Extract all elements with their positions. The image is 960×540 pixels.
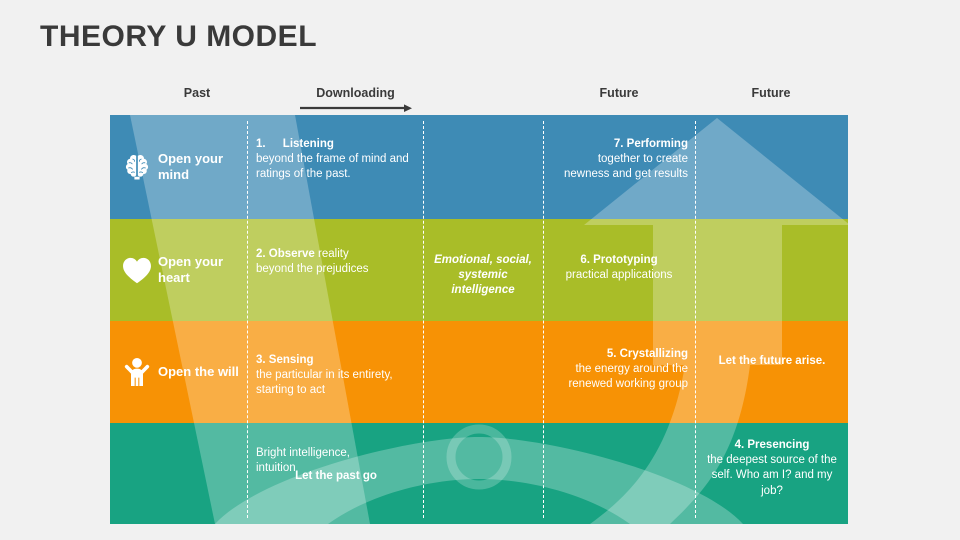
label-open-the-will: Open the will (110, 321, 247, 423)
cell-listening-body: beyond the frame of mind and ratings of … (256, 152, 416, 182)
heart-icon (116, 257, 158, 284)
cell-presencing: 4. Presencing the deepest source of the … (702, 438, 842, 499)
theory-u-matrix: Open your mind 1. Listening beyond the f… (110, 115, 848, 524)
cell-listening: 1. Listening beyond the frame of mind an… (256, 137, 416, 183)
cell-presencing-body: the deepest source of the self. Who am I… (702, 453, 842, 499)
column-header-future-2: Future (696, 86, 846, 100)
cell-let-the-future-arise: Let the future arise. (702, 354, 842, 369)
cell-crystallizing: 5. Crystallizing the energy around the r… (550, 347, 688, 393)
cell-observe-body: beyond the prejudices (256, 262, 416, 277)
cell-intelligence: Emotional, social, systemic intelligence (430, 253, 536, 299)
column-divider-2 (423, 121, 424, 518)
column-header-downloading: Downloading (248, 86, 463, 100)
cell-listening-heading: Listening (283, 138, 334, 150)
label-open-your-mind: Open your mind (110, 115, 247, 219)
cell-observe-heading: 2. Observe (256, 248, 315, 260)
cell-prototyping-heading: 6. Prototyping (550, 253, 688, 268)
label-text-open-your-mind: Open your mind (158, 151, 247, 183)
cell-crystallizing-body: the energy around the renewed working gr… (550, 362, 688, 392)
person-icon (116, 357, 158, 387)
cell-sensing-body: the particular in its entirety, starting… (256, 368, 416, 398)
cell-observe-rest: reality (315, 248, 349, 260)
cell-listening-number: 1. (256, 138, 266, 150)
label-text-open-the-will: Open the will (158, 364, 239, 380)
label-open-your-heart: Open your heart (110, 219, 247, 321)
cell-performing-body: together to create newness and get resul… (550, 152, 688, 182)
cell-performing-heading: 7. Performing (550, 137, 688, 152)
slide-canvas: THEORY U MODEL Past Downloading Future F… (0, 0, 960, 540)
cell-let-the-past-go: Let the past go (256, 469, 416, 484)
cell-sensing: 3. Sensing the particular in its entiret… (256, 353, 416, 399)
cell-observe: 2. Observe reality beyond the prejudices (256, 247, 416, 277)
cell-performing: 7. Performing together to create newness… (550, 137, 688, 183)
label-text-open-your-heart: Open your heart (158, 254, 247, 286)
page-title: THEORY U MODEL (40, 20, 317, 54)
downloading-arrow-icon (300, 104, 412, 113)
column-header-past: Past (152, 86, 242, 100)
cell-sensing-heading: 3. Sensing (256, 353, 416, 368)
column-divider-4 (695, 121, 696, 518)
column-header-future-1: Future (545, 86, 693, 100)
brain-icon (116, 154, 158, 180)
column-divider-3 (543, 121, 544, 518)
cell-crystallizing-heading: 5. Crystallizing (550, 347, 688, 362)
cell-prototyping: 6. Prototyping practical applications (550, 253, 688, 283)
cell-presencing-heading: 4. Presencing (702, 438, 842, 453)
cell-prototyping-body: practical applications (550, 268, 688, 283)
column-divider-1 (247, 121, 248, 518)
